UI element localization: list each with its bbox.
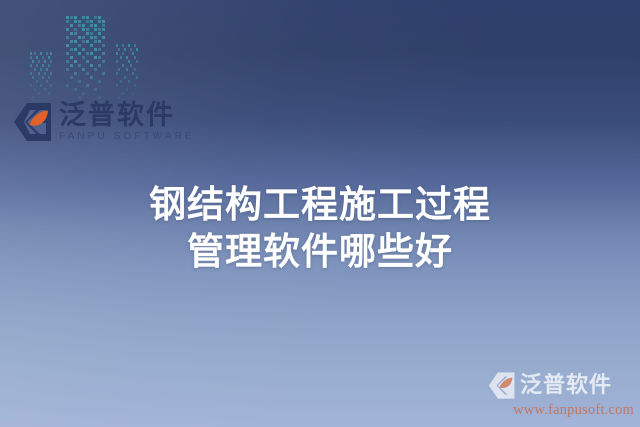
page-title: 钢结构工程施工过程 管理软件哪些好 [0,181,640,275]
page-title-line-1: 钢结构工程施工过程 [0,181,640,228]
brand-name-cn: 泛普软件 [59,102,195,129]
pixel-skyline-icon [28,6,140,110]
brand-wordmark: 泛普软件 FANPU SOFTWARE [59,102,195,142]
brand-logo: 泛普软件 FANPU SOFTWARE [13,101,195,143]
watermark-url: www.fanpusoft.com [488,402,634,419]
fanpu-logo-mark-icon [13,101,53,143]
watermark-brand-name: 泛普软件 [520,375,612,397]
brand-name-en: FANPU SOFTWARE [59,132,195,142]
promo-banner: 泛普软件 FANPU SOFTWARE 钢结构工程施工过程 管理软件哪些好 泛普… [0,0,640,427]
page-title-line-2: 管理软件哪些好 [0,228,640,275]
watermark-logo-row: 泛普软件 [488,371,634,400]
watermark: 泛普软件 www.fanpusoft.com [488,371,634,419]
watermark-fanpu-logo-mark-icon [488,371,516,400]
